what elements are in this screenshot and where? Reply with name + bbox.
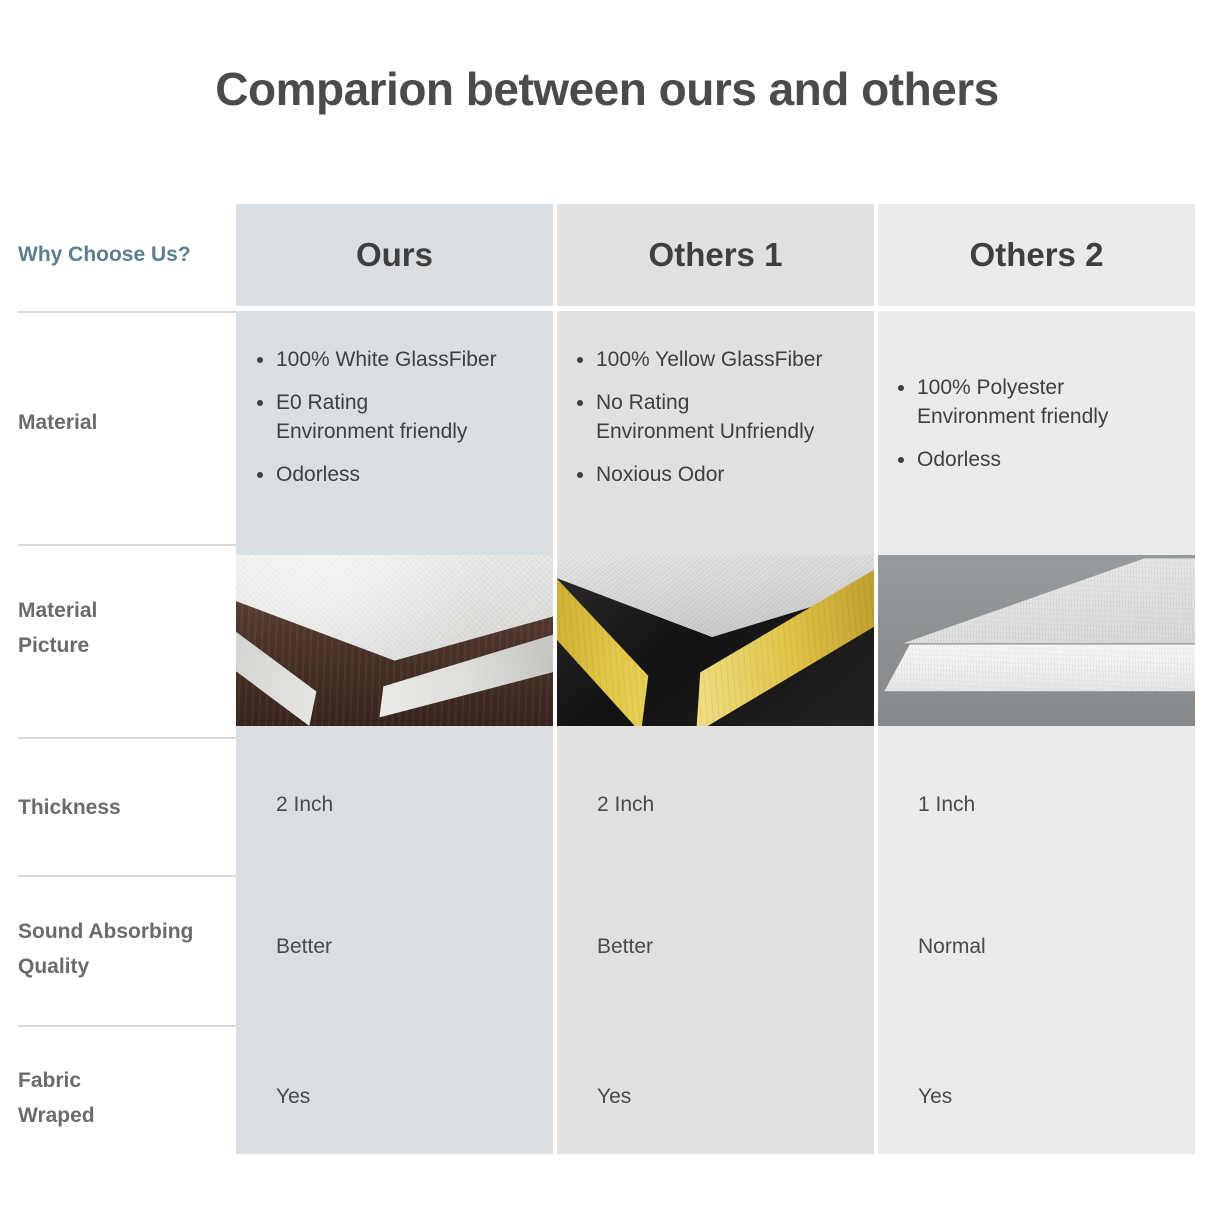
cell-thickness-ours: 2 Inch [276, 793, 333, 817]
cell-thickness-others-2: 1 Inch [918, 793, 975, 817]
cell-fabric-wraped-ours: Yes [276, 1085, 310, 1109]
bullet-list-material-ours: 100% White GlassFiber E0 Rating Environm… [254, 346, 554, 490]
cell-sound-absorbing-others-1: Better [597, 935, 653, 959]
material-picture-ours [236, 555, 553, 726]
comparison-table: Why Choose Us? Ours Others 1 Others 2 Ma… [0, 204, 1214, 1154]
list-item: 100% White GlassFiber [254, 346, 554, 375]
list-item: E0 Rating Environment friendly [254, 389, 554, 447]
list-item: 100% Polyester Environment friendly [895, 374, 1195, 432]
slab-front-edge [884, 637, 1195, 699]
cell-sound-absorbing-ours: Better [276, 935, 332, 959]
row-label-fabric-wraped: Fabric Wraped [18, 1064, 236, 1133]
list-item: Noxious Odor [574, 461, 874, 490]
table-row-material: Material 100% White GlassFiber E0 Rating… [0, 311, 1214, 544]
material-picture-others-1 [557, 555, 874, 726]
row-label-material-picture: Material Picture [18, 594, 236, 663]
table-row-fabric-wraped: Fabric Wraped Yes Yes Yes [0, 1025, 1214, 1154]
table-row-thickness: Thickness 2 Inch 2 Inch 1 Inch [0, 737, 1214, 875]
list-item: Odorless [254, 461, 554, 490]
material-picture-others-2 [878, 555, 1195, 726]
cell-thickness-others-1: 2 Inch [597, 793, 654, 817]
list-item: No Rating Environment Unfriendly [574, 389, 874, 447]
cell-material-ours: 100% White GlassFiber E0 Rating Environm… [254, 346, 554, 490]
header-column-others-2: Others 2 [878, 204, 1195, 306]
list-item: Odorless [895, 446, 1195, 475]
comparison-table-page: Comparion between ours and others Why Ch… [0, 0, 1214, 1214]
cell-sound-absorbing-others-2: Normal [918, 935, 986, 959]
header-column-ours: Ours [236, 204, 553, 306]
cell-fabric-wraped-others-2: Yes [918, 1085, 952, 1109]
table-row-material-picture: Material Picture [0, 544, 1214, 737]
bullet-list-material-others-2: 100% Polyester Environment friendly Odor… [895, 374, 1195, 475]
page-title: Comparion between ours and others [0, 62, 1214, 116]
header-why-choose-us: Why Choose Us? [18, 204, 236, 306]
row-label-material: Material [18, 406, 236, 441]
row-label-thickness: Thickness [18, 791, 236, 826]
table-row-sound-absorbing-quality: Sound Absorbing Quality Better Better No… [0, 875, 1214, 1025]
table-header-row: Why Choose Us? Ours Others 1 Others 2 [0, 204, 1214, 306]
cell-fabric-wraped-others-1: Yes [597, 1085, 631, 1109]
row-label-sound-absorbing-quality: Sound Absorbing Quality [18, 915, 236, 984]
cell-material-others-1: 100% Yellow GlassFiber No Rating Environ… [574, 346, 874, 490]
bullet-list-material-others-1: 100% Yellow GlassFiber No Rating Environ… [574, 346, 874, 490]
cell-material-others-2: 100% Polyester Environment friendly Odor… [895, 374, 1195, 475]
list-item: 100% Yellow GlassFiber [574, 346, 874, 375]
header-column-others-1: Others 1 [557, 204, 874, 306]
